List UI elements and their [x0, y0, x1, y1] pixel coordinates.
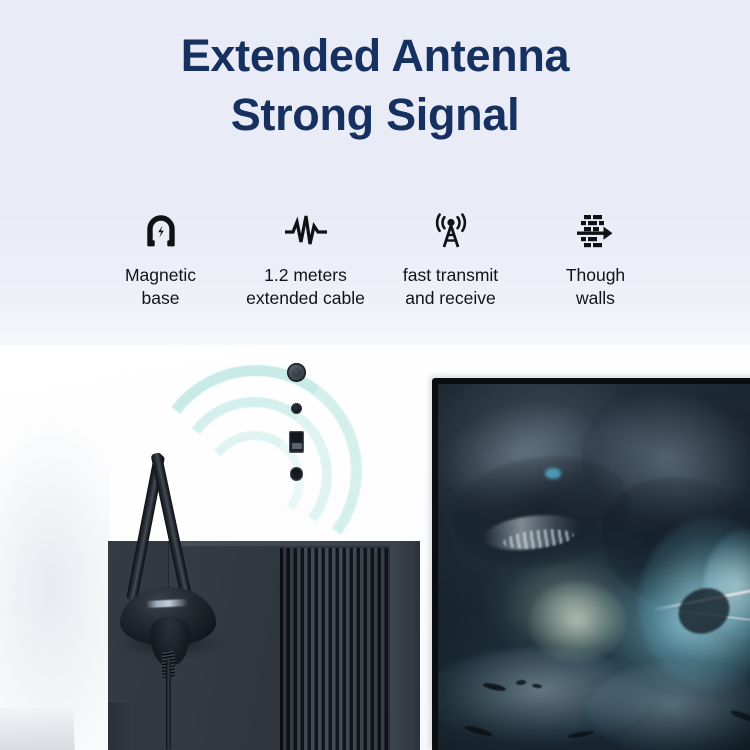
feature-label: Though walls	[566, 264, 625, 310]
feature-item-fast-transmit: fast transmit and receive	[378, 208, 523, 310]
usb-cable	[166, 659, 171, 750]
product-marketing-image: Extended Antenna Strong Signal Magnetic …	[0, 0, 750, 750]
magnet-icon	[140, 208, 182, 254]
feature-label: Magnetic base	[125, 264, 196, 310]
feature-item-through-walls: Though walls	[523, 208, 668, 310]
headline-line-1: Extended Antenna	[0, 26, 750, 85]
antenna-right	[151, 452, 193, 603]
top-info-panel: Extended Antenna Strong Signal Magnetic …	[0, 0, 750, 348]
arrow-through-wall-icon	[573, 208, 619, 254]
feature-item-magnetic-base: Magnetic base	[88, 208, 233, 310]
feature-list: Magnetic base 1.2 meters extended cable	[88, 208, 668, 310]
feature-item-extended-cable: 1.2 meters extended cable	[233, 208, 378, 310]
monitor-screen	[438, 384, 750, 750]
gaming-monitor	[432, 378, 750, 750]
feature-label: 1.2 meters extended cable	[246, 264, 365, 310]
page-title: Extended Antenna Strong Signal	[0, 26, 750, 144]
feature-label: fast transmit and receive	[403, 264, 498, 310]
waveform-icon	[282, 208, 330, 254]
screen-vignette	[438, 384, 750, 750]
broadcast-tower-icon	[429, 208, 473, 254]
headline-line-2: Strong Signal	[0, 85, 750, 144]
product-photo	[0, 345, 750, 750]
